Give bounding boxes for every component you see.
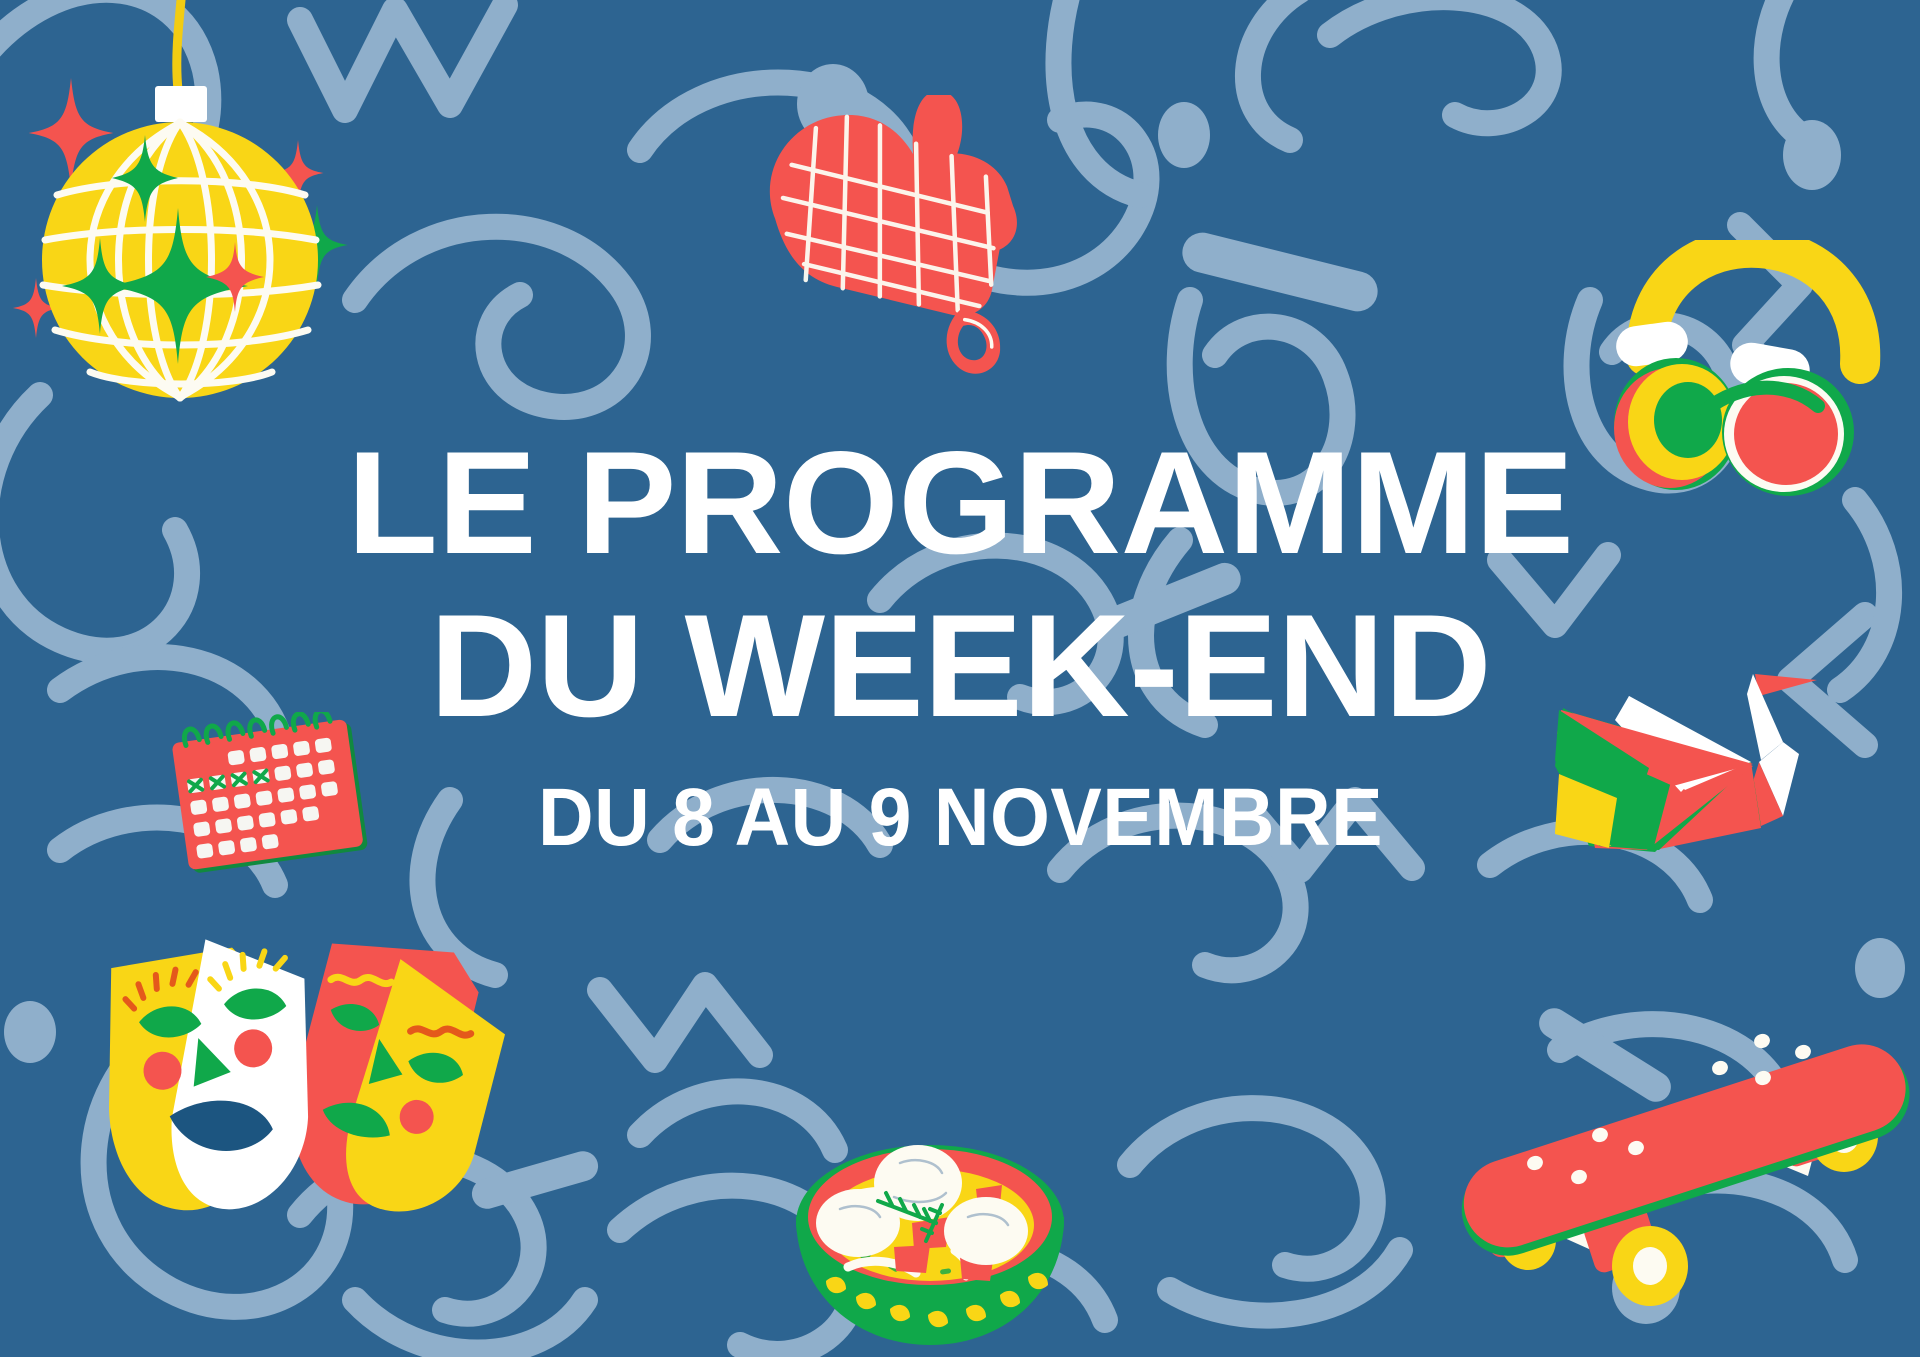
oven-mitt-icon bbox=[740, 95, 1040, 385]
theater-masks-icon bbox=[105, 925, 545, 1255]
poster-subtitle-dates: DU 8 AU 9 NOVEMBRE bbox=[537, 771, 1382, 865]
headphones-icon bbox=[1610, 240, 1900, 500]
skateboard-icon bbox=[1450, 1000, 1920, 1355]
calendar-icon bbox=[172, 712, 372, 882]
poster-title-line-2: DU WEEK-END bbox=[429, 597, 1491, 736]
origami-crane-icon bbox=[1555, 650, 1875, 900]
poster-title-line-1: LE PROGRAMME bbox=[347, 434, 1574, 573]
poster-canvas: LE PROGRAMME DU WEEK-END DU 8 AU 9 NOVEM… bbox=[0, 0, 1920, 1357]
disco-ball-icon bbox=[20, 0, 360, 420]
soup-bowl-icon bbox=[790, 1105, 1070, 1355]
